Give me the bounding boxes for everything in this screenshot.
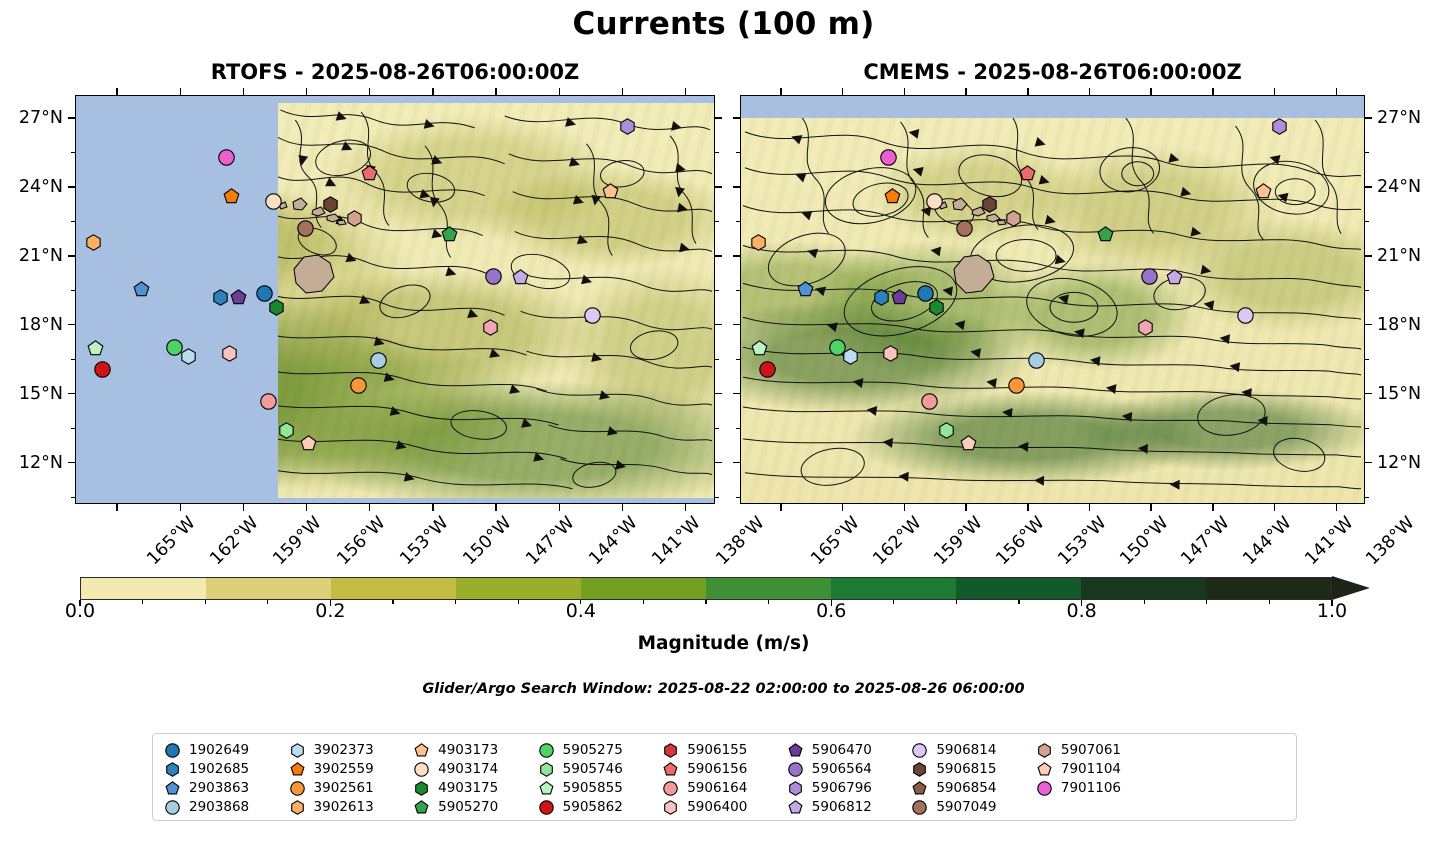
ytick-minor-right <box>1365 359 1369 360</box>
legend-item[interactable]: 2903868 <box>165 798 290 816</box>
map-marker-7901104[interactable] <box>300 435 317 452</box>
legend-label: 5906564 <box>812 761 872 777</box>
map-marker-5906855[interactable] <box>482 319 499 336</box>
colorbar-band-9 <box>1206 578 1331 599</box>
xtick-major-top <box>965 88 966 95</box>
legend-marker-pentagon-icon <box>788 800 803 815</box>
xtick-major-top <box>369 88 370 95</box>
ytick-major-right <box>1365 462 1372 463</box>
map-marker-5906814[interactable] <box>1237 307 1254 324</box>
ytick-label-right: 18°N <box>1377 315 1421 335</box>
xtick-major-top <box>1274 88 1275 95</box>
map-marker-5906156[interactable] <box>1019 165 1036 182</box>
legend-item[interactable]: 3902561 <box>290 779 415 797</box>
map-marker-4903173[interactable] <box>602 183 619 200</box>
legend-label: 5906156 <box>687 761 747 777</box>
map-marker-5907049[interactable] <box>297 220 314 237</box>
map-marker-3902613[interactable] <box>85 234 102 251</box>
xtick-major-top <box>1150 88 1151 95</box>
xtick-major <box>622 504 623 511</box>
xtick-major <box>432 504 433 511</box>
ytick-minor-right <box>715 152 719 153</box>
map-marker-4903174[interactable] <box>265 193 282 210</box>
xtick-major <box>1027 504 1028 511</box>
ytick-label-left: 27°N <box>0 108 63 128</box>
colorbar-tick-minor <box>1206 600 1207 604</box>
xtick-major <box>306 504 307 511</box>
legend-label: 1902685 <box>189 761 249 777</box>
legend-label: 3902373 <box>314 742 374 758</box>
land-hawaii-island <box>288 253 340 297</box>
map-marker-1902685[interactable] <box>873 289 890 306</box>
map-marker-3902613[interactable] <box>750 234 767 251</box>
nodata-strip-bottom-rtofs <box>278 498 714 503</box>
xtick-label: 159°W <box>931 513 987 569</box>
ytick-major-right <box>1365 324 1372 325</box>
legend-item[interactable]: 2903863 <box>165 779 290 797</box>
legend-label: 3902559 <box>314 761 374 777</box>
legend-marker-circle-icon <box>912 800 927 815</box>
legend-label: 7901106 <box>1061 780 1121 796</box>
ytick-major-right <box>715 462 722 463</box>
xtick-major <box>685 504 686 511</box>
xtick-label: 144°W <box>586 513 642 569</box>
ytick-minor-left <box>71 290 75 291</box>
ytick-minor-left <box>736 497 740 498</box>
legend-label: 5905275 <box>563 742 623 758</box>
ytick-minor-left <box>736 290 740 291</box>
map-marker-3902373[interactable] <box>842 348 859 365</box>
xtick-major-top <box>1089 88 1090 95</box>
xtick-major-top <box>780 88 781 95</box>
colorbar-tick-minor <box>518 600 519 604</box>
ytick-minor-right <box>715 428 719 429</box>
xtick-major-top <box>685 88 686 95</box>
legend-item[interactable]: 4903173 <box>414 741 539 759</box>
colorbar-tick-label: 0.0 <box>65 600 95 622</box>
ytick-minor-right <box>715 221 719 222</box>
legend-item[interactable]: 5906814 <box>912 741 1037 759</box>
map-marker-4903175[interactable] <box>268 299 285 316</box>
legend-label: 5906854 <box>936 780 996 796</box>
xtick-major-top <box>842 88 843 95</box>
xtick-major <box>1089 504 1090 511</box>
ytick-major-left <box>68 117 75 118</box>
map-marker-5906564[interactable] <box>485 268 502 285</box>
legend-item[interactable]: 5907049 <box>912 798 1037 816</box>
colorbar-band-5 <box>706 578 831 599</box>
ytick-major-right <box>1365 255 1372 256</box>
xtick-label: 153°W <box>1054 513 1110 569</box>
legend-item[interactable]: 5906400 <box>663 798 788 816</box>
legend-label: 5906155 <box>687 742 747 758</box>
xtick-major-top <box>559 88 560 95</box>
legend-label: 7901104 <box>1061 761 1121 777</box>
map-marker-5906564[interactable] <box>1141 268 1158 285</box>
map-marker-5906164[interactable] <box>921 393 938 410</box>
ytick-major-right <box>715 255 722 256</box>
map-marker-7901106[interactable] <box>880 149 897 166</box>
ytick-minor-right <box>715 497 719 498</box>
ytick-major-left <box>68 462 75 463</box>
map-marker-5907061[interactable] <box>346 210 363 227</box>
legend-item[interactable]: 3902559 <box>290 760 415 778</box>
xtick-major <box>369 504 370 511</box>
ytick-major-left <box>68 393 75 394</box>
ytick-minor-right <box>715 290 719 291</box>
colorbar-band-0 <box>81 578 206 599</box>
colorbar-tick-minor <box>205 600 206 604</box>
legend-marker-pentagon-icon <box>912 781 927 796</box>
map-marker-2903868[interactable] <box>1028 352 1045 369</box>
xtick-major-top <box>116 88 117 95</box>
map-marker-5906156[interactable] <box>361 165 378 182</box>
xtick-label: 162°W <box>869 513 925 569</box>
colorbar-tick-minor <box>392 600 393 604</box>
ytick-major-right <box>715 393 722 394</box>
colorbar-tick-label: 1.0 <box>1317 600 1347 622</box>
ytick-major-left <box>68 186 75 187</box>
legend-marker-circle-icon <box>539 800 554 815</box>
colorbar-band-8 <box>1081 578 1206 599</box>
ytick-minor-left <box>71 359 75 360</box>
legend-label: 5906470 <box>812 742 872 758</box>
legend-marker-circle-icon <box>1037 781 1052 796</box>
colorbar-tick-minor <box>455 600 456 604</box>
legend-marker-circle-icon <box>165 743 180 758</box>
colorbar-band-3 <box>456 578 581 599</box>
colorbar-tick-minor <box>267 600 268 604</box>
colorbar-tick-minor <box>893 600 894 604</box>
map-marker-2903868[interactable] <box>370 352 387 369</box>
legend-label: 3902561 <box>314 780 374 796</box>
xtick-major-top <box>180 88 181 95</box>
colorbar-title: Magnitude (m/s) <box>0 633 1447 654</box>
map-marker-5905855[interactable] <box>751 340 768 357</box>
legend-marker-pentagon-icon <box>290 762 305 777</box>
legend-item[interactable]: 1902685 <box>165 760 290 778</box>
legend-label: 5906400 <box>687 799 747 815</box>
ytick-minor-left <box>736 152 740 153</box>
ytick-label-right: 15°N <box>1377 384 1421 404</box>
xtick-major-top <box>1212 88 1213 95</box>
legend-item[interactable]: 5906854 <box>912 779 1037 797</box>
nodata-strip-top-rtofs <box>278 96 714 103</box>
ytick-label-right: 27°N <box>1377 108 1421 128</box>
colorbar-gradient <box>80 577 1332 600</box>
legend-item[interactable]: 7901104 <box>1037 760 1162 778</box>
xtick-label: 150°W <box>459 513 515 569</box>
legend-item[interactable]: 5905746 <box>539 760 664 778</box>
colorbar-tick-minor <box>1269 600 1270 604</box>
ytick-major-right <box>715 324 722 325</box>
ytick-major-right <box>1365 117 1372 118</box>
ytick-minor-right <box>715 359 719 360</box>
xtick-major-top <box>622 88 623 95</box>
ytick-minor-right <box>1365 428 1369 429</box>
legend-item[interactable]: 3902373 <box>290 741 415 759</box>
legend-marker-hexagon-icon <box>912 762 927 777</box>
xtick-label: 138°W <box>1363 513 1419 569</box>
map-marker-3902561[interactable] <box>350 377 367 394</box>
legend-label: 5905746 <box>563 761 623 777</box>
nodata-strip-top-cmems <box>741 96 1364 118</box>
legend-label: 2903868 <box>189 799 249 815</box>
xtick-label: 165°W <box>808 513 864 569</box>
map-marker-5906470[interactable] <box>891 289 908 306</box>
xtick-major-top <box>495 88 496 95</box>
xtick-label: 141°W <box>649 513 705 569</box>
map-marker-7901106[interactable] <box>218 149 235 166</box>
legend-label: 4903174 <box>438 761 498 777</box>
ytick-label-right: 24°N <box>1377 177 1421 197</box>
legend-marker-pentagon-icon <box>414 800 429 815</box>
map-marker-5906796[interactable] <box>1271 118 1288 135</box>
legend-item[interactable]: 1902649 <box>165 741 290 759</box>
ytick-major-left <box>733 462 740 463</box>
ytick-major-right <box>715 117 722 118</box>
legend-marker-hexagon-icon <box>539 762 554 777</box>
legend-label: 4903173 <box>438 742 498 758</box>
legend-item[interactable]: 5907061 <box>1037 741 1162 759</box>
xtick-label: 156°W <box>333 513 389 569</box>
ytick-minor-left <box>736 221 740 222</box>
legend-item[interactable]: 5906470 <box>788 741 913 759</box>
legend-marker-circle-icon <box>290 781 305 796</box>
legend-marker-pentagon-icon <box>414 743 429 758</box>
map-marker-4903173[interactable] <box>1255 183 1272 200</box>
map-marker-4903175[interactable] <box>928 299 945 316</box>
legend-label: 2903863 <box>189 780 249 796</box>
streamlines-cmems <box>741 96 1364 504</box>
legend-marker-circle-icon <box>912 743 927 758</box>
colorbar-tick-label: 0.2 <box>315 600 345 622</box>
ytick-label-left: 15°N <box>0 384 63 404</box>
panel-title-rtofs: RTOFS - 2025-08-26T06:00:00Z <box>75 60 715 84</box>
legend-marker-hexagon-icon <box>290 743 305 758</box>
ytick-label-left: 24°N <box>0 177 63 197</box>
colorbar-band-2 <box>331 578 456 599</box>
legend-marker-circle-icon <box>414 762 429 777</box>
xtick-label: 147°W <box>1178 513 1234 569</box>
ytick-major-right <box>1365 186 1372 187</box>
map-marker-5906812[interactable] <box>512 269 529 286</box>
legend-label: 5906815 <box>936 761 996 777</box>
xtick-major <box>965 504 966 511</box>
legend-marker-circle-icon <box>663 781 678 796</box>
xtick-major <box>243 504 244 511</box>
legend-marker-hexagon-icon <box>414 781 429 796</box>
legend-item[interactable]: 5905862 <box>539 798 664 816</box>
xtick-label: 165°W <box>144 513 200 569</box>
ytick-major-left <box>733 117 740 118</box>
map-marker-7901104[interactable] <box>960 435 977 452</box>
legend-item[interactable]: 5906155 <box>663 741 788 759</box>
legend-label: 5907061 <box>1061 742 1121 758</box>
map-marker-2903863[interactable] <box>133 281 150 298</box>
map-marker-5905270[interactable] <box>1097 226 1114 243</box>
legend-item[interactable]: 5906812 <box>788 798 913 816</box>
xtick-label: 159°W <box>270 513 326 569</box>
legend-item[interactable]: 4903175 <box>414 779 539 797</box>
map-marker-5906164[interactable] <box>260 393 277 410</box>
xtick-major-top <box>1336 88 1337 95</box>
legend-marker-hexagon-icon <box>1037 743 1052 758</box>
legend-box[interactable]: 1902649190268529038632903868390237339025… <box>152 733 1297 821</box>
xtick-major <box>495 504 496 511</box>
ytick-major-left <box>733 324 740 325</box>
map-marker-5906812[interactable] <box>1166 269 1183 286</box>
map-marker-5906400[interactable] <box>221 345 238 362</box>
ytick-major-right <box>715 186 722 187</box>
map-marker-5905270[interactable] <box>441 226 458 243</box>
map-marker-5905746[interactable] <box>938 422 955 439</box>
legend-marker-pentagon-icon <box>663 762 678 777</box>
nodata-mask-rtofs <box>76 96 278 503</box>
map-marker-2903863[interactable] <box>797 281 814 298</box>
xtick-major <box>1274 504 1275 511</box>
ytick-minor-left <box>71 428 75 429</box>
ytick-major-left <box>733 255 740 256</box>
map-marker-5905862[interactable] <box>759 361 776 378</box>
xtick-label: 144°W <box>1239 513 1295 569</box>
map-marker-5906855[interactable] <box>1137 319 1154 336</box>
legend-label: 5906812 <box>812 799 872 815</box>
legend-item[interactable]: 4903174 <box>414 760 539 778</box>
colorbar-band-7 <box>956 578 1081 599</box>
figure-title: Currents (100 m) <box>0 6 1447 42</box>
xtick-major <box>1336 504 1337 511</box>
legend-label: 3902613 <box>314 799 374 815</box>
legend-item[interactable]: 5905270 <box>414 798 539 816</box>
map-marker-1902685[interactable] <box>212 289 229 306</box>
map-panel-rtofs[interactable] <box>75 95 715 504</box>
map-marker-3902559[interactable] <box>884 188 901 205</box>
map-marker-5907061[interactable] <box>1005 210 1022 227</box>
legend-item[interactable]: 7901106 <box>1037 779 1162 797</box>
map-marker-5906815[interactable] <box>981 196 998 213</box>
legend-label: 5906814 <box>936 742 996 758</box>
colorbar-tick-label: 0.4 <box>566 600 596 622</box>
map-marker-5906470[interactable] <box>230 289 247 306</box>
colorbar[interactable] <box>80 577 1370 600</box>
ytick-label-right: 21°N <box>1377 246 1421 266</box>
ytick-label-right: 12°N <box>1377 453 1421 473</box>
legend-marker-pentagon-icon <box>165 781 180 796</box>
legend-marker-circle-icon <box>165 800 180 815</box>
legend-item[interactable]: 5905855 <box>539 779 664 797</box>
legend-item[interactable]: 5906564 <box>788 760 913 778</box>
xtick-label: 150°W <box>1116 513 1172 569</box>
legend-item[interactable]: 5905275 <box>539 741 664 759</box>
legend-item[interactable]: 5906156 <box>663 760 788 778</box>
map-marker-5906815[interactable] <box>322 196 339 213</box>
ytick-minor-right <box>1365 290 1369 291</box>
map-marker-5905855[interactable] <box>87 340 104 357</box>
ytick-label-left: 12°N <box>0 453 63 473</box>
xtick-major-top <box>904 88 905 95</box>
colorbar-tick-label: 0.8 <box>1066 600 1096 622</box>
xtick-major-top <box>432 88 433 95</box>
ytick-minor-left <box>736 428 740 429</box>
map-marker-3902561[interactable] <box>1008 377 1025 394</box>
map-marker-3902373[interactable] <box>180 348 197 365</box>
xtick-label: 138°W <box>712 513 768 569</box>
ytick-major-left <box>68 324 75 325</box>
colorbar-tick-minor <box>1018 600 1019 604</box>
ytick-minor-right <box>1365 221 1369 222</box>
legend-label: 1902649 <box>189 742 249 758</box>
panel-title-cmems: CMEMS - 2025-08-26T06:00:00Z <box>740 60 1365 84</box>
map-marker-5906400[interactable] <box>882 345 899 362</box>
colorbar-tick-minor <box>1144 600 1145 604</box>
legend-label: 5905862 <box>563 799 623 815</box>
legend-item[interactable]: 5906164 <box>663 779 788 797</box>
legend-item[interactable]: 5906796 <box>788 779 913 797</box>
xtick-major <box>904 504 905 511</box>
ytick-minor-left <box>736 359 740 360</box>
xtick-label: 141°W <box>1301 513 1357 569</box>
legend-item[interactable]: 5906815 <box>912 760 1037 778</box>
colorbar-tick-minor <box>768 600 769 604</box>
xtick-major <box>559 504 560 511</box>
map-marker-5905746[interactable] <box>278 422 295 439</box>
ytick-major-left <box>68 255 75 256</box>
colorbar-band-1 <box>206 578 331 599</box>
ytick-major-right <box>1365 393 1372 394</box>
legend-marker-hexagon-icon <box>663 743 678 758</box>
map-marker-5906796[interactable] <box>619 118 636 135</box>
map-marker-5907049[interactable] <box>956 220 973 237</box>
ytick-major-left <box>733 393 740 394</box>
map-marker-3902559[interactable] <box>223 188 240 205</box>
ytick-minor-right <box>1365 497 1369 498</box>
ytick-major-left <box>733 186 740 187</box>
legend-marker-circle-icon <box>539 743 554 758</box>
colorbar-tick-label: 0.6 <box>816 600 846 622</box>
legend-marker-hexagon-icon <box>290 800 305 815</box>
xtick-label: 156°W <box>993 513 1049 569</box>
xtick-major-top <box>306 88 307 95</box>
ytick-label-left: 18°N <box>0 315 63 335</box>
xtick-major-top <box>1027 88 1028 95</box>
colorbar-band-6 <box>831 578 956 599</box>
xtick-major-top <box>243 88 244 95</box>
legend-item[interactable]: 3902613 <box>290 798 415 816</box>
xtick-major <box>842 504 843 511</box>
map-panel-cmems[interactable] <box>740 95 1365 504</box>
xtick-label: 162°W <box>207 513 263 569</box>
legend-label: 5907049 <box>936 799 996 815</box>
xtick-major <box>780 504 781 511</box>
xtick-label: 153°W <box>396 513 452 569</box>
legend-label: 5906164 <box>687 780 747 796</box>
ytick-minor-left <box>71 497 75 498</box>
colorbar-tick-minor <box>643 600 644 604</box>
colorbar-band-4 <box>581 578 706 599</box>
search-window-note: Glider/Argo Search Window: 2025-08-22 02… <box>0 681 1447 697</box>
map-marker-5905862[interactable] <box>94 361 111 378</box>
xtick-major <box>1150 504 1151 511</box>
legend-label: 4903175 <box>438 780 498 796</box>
map-marker-5906814[interactable] <box>584 307 601 324</box>
map-marker-4903174[interactable] <box>926 193 943 210</box>
legend-label: 5905855 <box>563 780 623 796</box>
ytick-label-left: 21°N <box>0 246 63 266</box>
legend-grid: 1902649190268529038632903868390237339025… <box>165 741 1286 814</box>
legend-marker-circle-icon <box>788 762 803 777</box>
legend-marker-pentagon-icon <box>1037 762 1052 777</box>
